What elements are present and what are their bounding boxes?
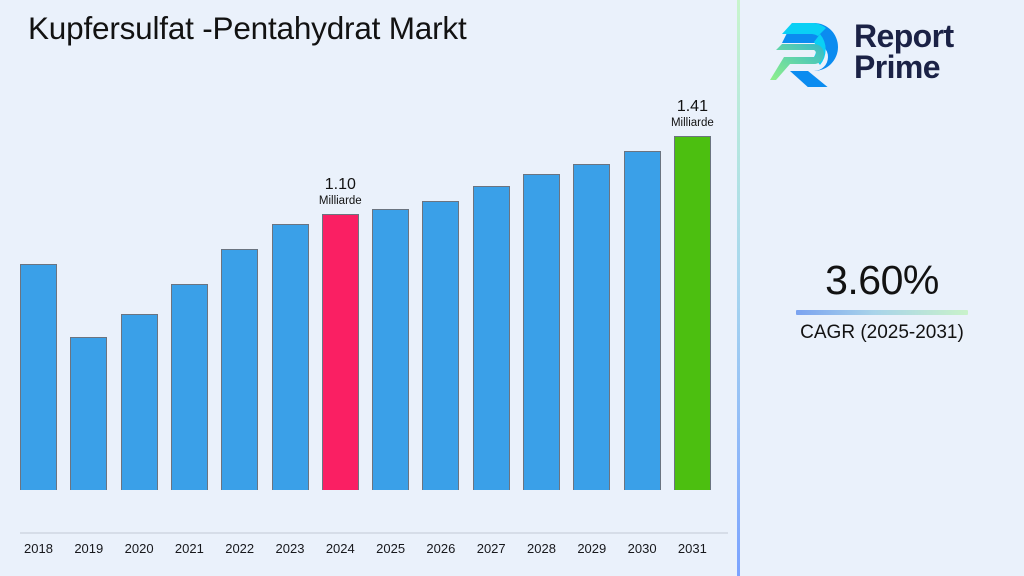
x-tick-2028: 2028 <box>523 541 560 556</box>
bar-value-2031: 1.41 <box>671 97 714 116</box>
bar-rect-2022 <box>221 249 258 490</box>
cagr-caption: CAGR (2025-2031) <box>740 321 1024 345</box>
bar-2029[interactable] <box>573 164 610 490</box>
x-tick-2023: 2023 <box>272 541 309 556</box>
bar-2023[interactable] <box>272 224 309 490</box>
cagr-divider-rule <box>796 310 968 315</box>
report-prime-r-mark-icon <box>770 17 844 87</box>
x-tick-2026: 2026 <box>422 541 459 556</box>
x-axis-line <box>20 532 728 534</box>
brand-name: Report Prime <box>854 21 954 83</box>
bar-2021[interactable] <box>171 284 208 490</box>
bar-rect-2025 <box>372 209 409 490</box>
bar-unit-2031: Milliarde <box>671 116 714 130</box>
x-tick-2027: 2027 <box>473 541 510 556</box>
bar-rect-2020 <box>121 314 158 490</box>
bar-chart-plot: 1.10Milliarde1.41Milliarde <box>0 0 738 534</box>
chart-panel: Kupfersulfat -Pentahydrat Markt 1.10Mill… <box>0 0 738 576</box>
bar-rect-2026 <box>422 201 459 490</box>
x-tick-2022: 2022 <box>221 541 258 556</box>
bar-unit-2024: Milliarde <box>319 194 362 208</box>
x-tick-2025: 2025 <box>372 541 409 556</box>
x-tick-2024: 2024 <box>322 541 359 556</box>
bar-2022[interactable] <box>221 249 258 490</box>
bar-value-2024: 1.10 <box>319 175 362 194</box>
brand-logo: Report Prime <box>770 12 1002 92</box>
bar-2027[interactable] <box>473 186 510 490</box>
chart-infographic: Kupfersulfat -Pentahydrat Markt 1.10Mill… <box>0 0 1024 576</box>
bar-rect-2030 <box>624 151 661 490</box>
x-tick-2019: 2019 <box>70 541 107 556</box>
bar-rect-2021 <box>171 284 208 490</box>
bar-rect-2024 <box>322 214 359 490</box>
x-tick-2030: 2030 <box>624 541 661 556</box>
x-tick-2020: 2020 <box>121 541 158 556</box>
bar-2031[interactable]: 1.41Milliarde <box>674 136 711 490</box>
bar-2020[interactable] <box>121 314 158 490</box>
bar-rect-2027 <box>473 186 510 490</box>
x-tick-2018: 2018 <box>20 541 57 556</box>
bar-rect-2028 <box>523 174 560 490</box>
bar-2018[interactable] <box>20 264 57 490</box>
bar-2024[interactable]: 1.10Milliarde <box>322 214 359 490</box>
cagr-block: 3.60% CAGR (2025-2031) <box>740 255 1024 345</box>
x-tick-2021: 2021 <box>171 541 208 556</box>
brand-panel: Report Prime 3.60% CAGR (2025-2031) <box>740 0 1024 576</box>
bar-2026[interactable] <box>422 201 459 490</box>
bar-rect-2029 <box>573 164 610 490</box>
bar-rect-2023 <box>272 224 309 490</box>
bar-value-label-2031: 1.41Milliarde <box>671 97 714 130</box>
brand-name-line-2: Prime <box>854 49 940 85</box>
bar-value-label-2024: 1.10Milliarde <box>319 175 362 208</box>
bar-rect-2019 <box>70 337 107 490</box>
x-tick-2031: 2031 <box>674 541 711 556</box>
bar-rect-2018 <box>20 264 57 490</box>
cagr-value: 3.60% <box>740 255 1024 305</box>
x-tick-2029: 2029 <box>573 541 610 556</box>
bar-2028[interactable] <box>523 174 560 490</box>
bar-2030[interactable] <box>624 151 661 490</box>
bar-2019[interactable] <box>70 337 107 490</box>
bar-2025[interactable] <box>372 209 409 490</box>
bar-rect-2031 <box>674 136 711 490</box>
